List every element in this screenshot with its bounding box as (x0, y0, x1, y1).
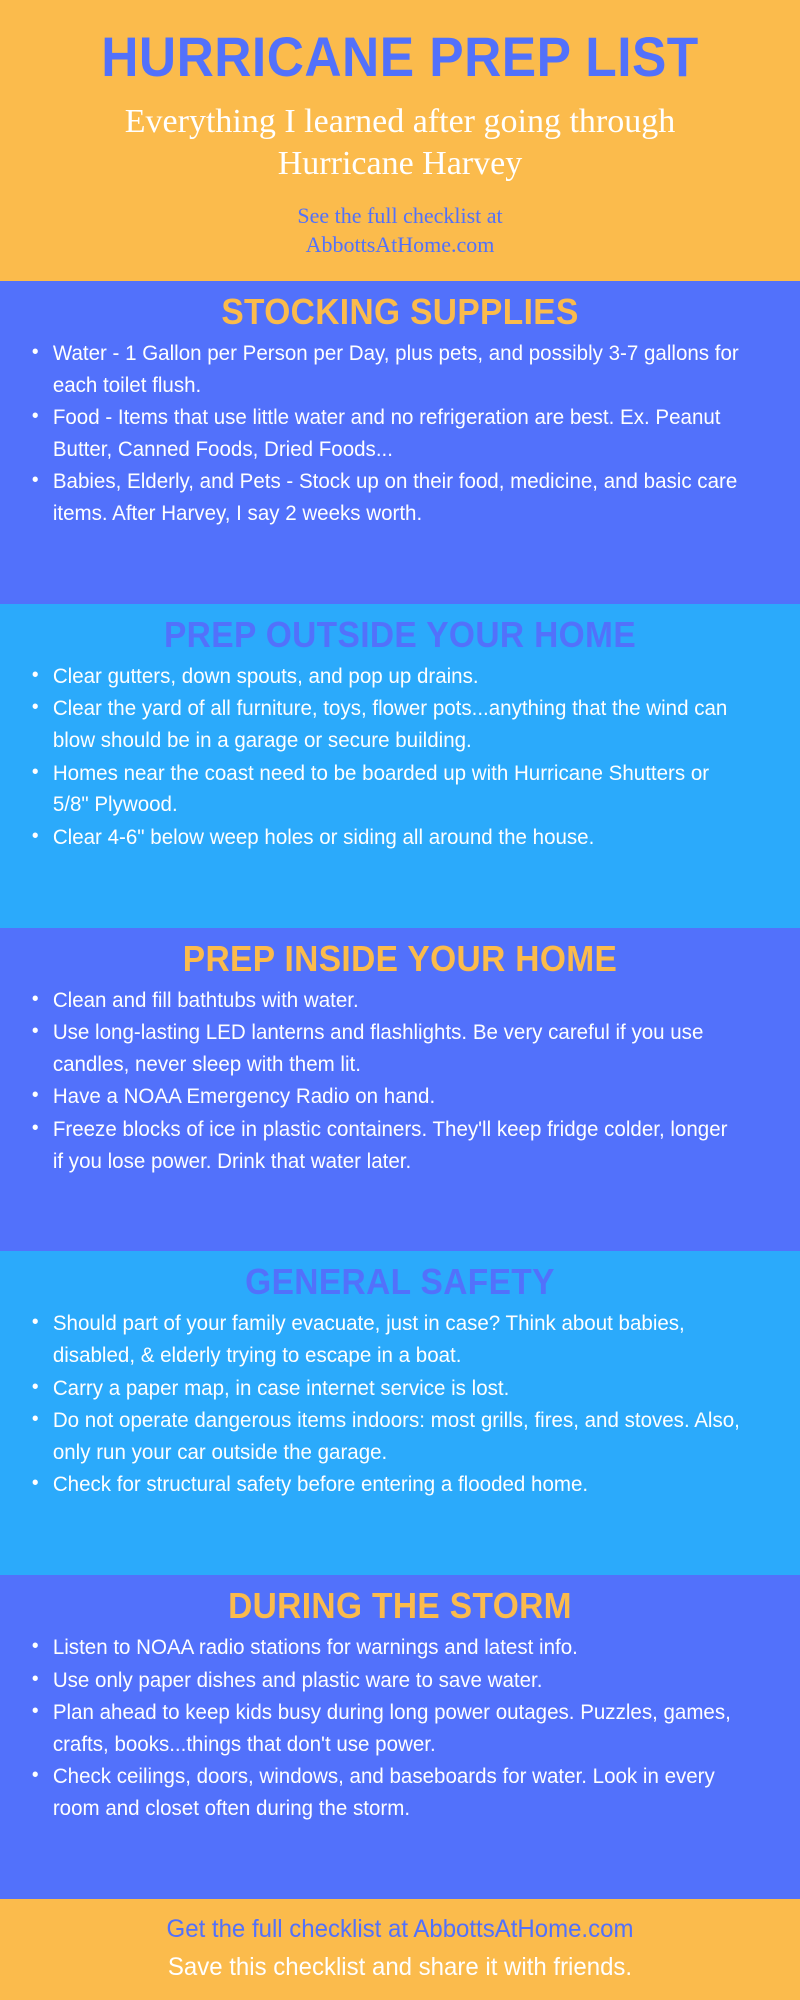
header-checklist-link[interactable]: See the full checklist at AbbottsAtHome.… (30, 201, 770, 259)
section-bullet-list: Clear gutters, down spouts, and pop up d… (22, 661, 778, 855)
page-subtitle: Everything I learned after going through… (68, 101, 732, 185)
section-bullet-list: Water - 1 Gallon per Person per Day, plu… (22, 338, 778, 531)
list-item: Should part of your family evacuate, jus… (28, 1308, 740, 1371)
list-item: Freeze blocks of ice in plastic containe… (28, 1114, 740, 1177)
page-title: HURRICANE PREP LIST (60, 28, 741, 87)
list-item: Clear the yard of all furniture, toys, f… (28, 693, 740, 756)
section-prep-outside-your-home: PREP OUTSIDE YOUR HOME Clear gutters, do… (0, 604, 800, 928)
list-item: Homes near the coast need to be boarded … (28, 758, 740, 821)
list-item: Use only paper dishes and plastic ware t… (28, 1665, 740, 1697)
list-item: Clean and fill bathtubs with water. (28, 985, 740, 1017)
list-item: Check ceilings, doors, windows, and base… (28, 1761, 740, 1824)
section-heading: STOCKING SUPPLIES (48, 293, 751, 332)
list-item: Clear gutters, down spouts, and pop up d… (28, 661, 740, 693)
section-heading: PREP INSIDE YOUR HOME (48, 940, 751, 979)
list-item: Do not operate dangerous items indoors: … (28, 1405, 740, 1468)
list-item: Have a NOAA Emergency Radio on hand. (28, 1081, 740, 1113)
infographic-poster: HURRICANE PREP LIST Everything I learned… (0, 0, 800, 2000)
list-item: Food - Items that use little water and n… (28, 402, 740, 465)
list-item: Use long-lasting LED lanterns and flashl… (28, 1017, 740, 1080)
section-prep-inside-your-home: PREP INSIDE YOUR HOME Clean and fill bat… (0, 928, 800, 1252)
section-during-the-storm: DURING THE STORM Listen to NOAA radio st… (0, 1575, 800, 1899)
list-item: Babies, Elderly, and Pets - Stock up on … (28, 466, 740, 529)
section-bullet-list: Clean and fill bathtubs with water. Use … (22, 985, 778, 1179)
section-bullet-list: Listen to NOAA radio stations for warnin… (22, 1632, 778, 1826)
list-item: Clear 4-6" below weep holes or siding al… (28, 822, 740, 854)
section-bullet-list: Should part of your family evacuate, jus… (22, 1308, 778, 1502)
section-heading: GENERAL SAFETY (48, 1263, 751, 1302)
section-heading: PREP OUTSIDE YOUR HOME (48, 616, 751, 655)
list-item: Plan ahead to keep kids busy during long… (28, 1697, 740, 1760)
section-heading: DURING THE STORM (48, 1587, 751, 1626)
footer-share-text: Save this checklist and share it with fr… (35, 1951, 765, 1985)
poster-footer: Get the full checklist at AbbottsAtHome.… (0, 1899, 800, 2000)
footer-checklist-link[interactable]: Get the full checklist at AbbottsAtHome.… (35, 1913, 765, 1947)
list-item: Check for structural safety before enter… (28, 1469, 740, 1501)
header-link-line1: See the full checklist at (297, 203, 502, 228)
list-item: Carry a paper map, in case internet serv… (28, 1373, 740, 1405)
list-item: Water - 1 Gallon per Person per Day, plu… (28, 338, 740, 401)
list-item: Listen to NOAA radio stations for warnin… (28, 1632, 740, 1664)
section-stocking-supplies: STOCKING SUPPLIES Water - 1 Gallon per P… (0, 281, 800, 604)
header-link-line2: AbbottsAtHome.com (30, 230, 770, 259)
section-general-safety: GENERAL SAFETY Should part of your famil… (0, 1251, 800, 1575)
poster-header: HURRICANE PREP LIST Everything I learned… (0, 0, 800, 281)
